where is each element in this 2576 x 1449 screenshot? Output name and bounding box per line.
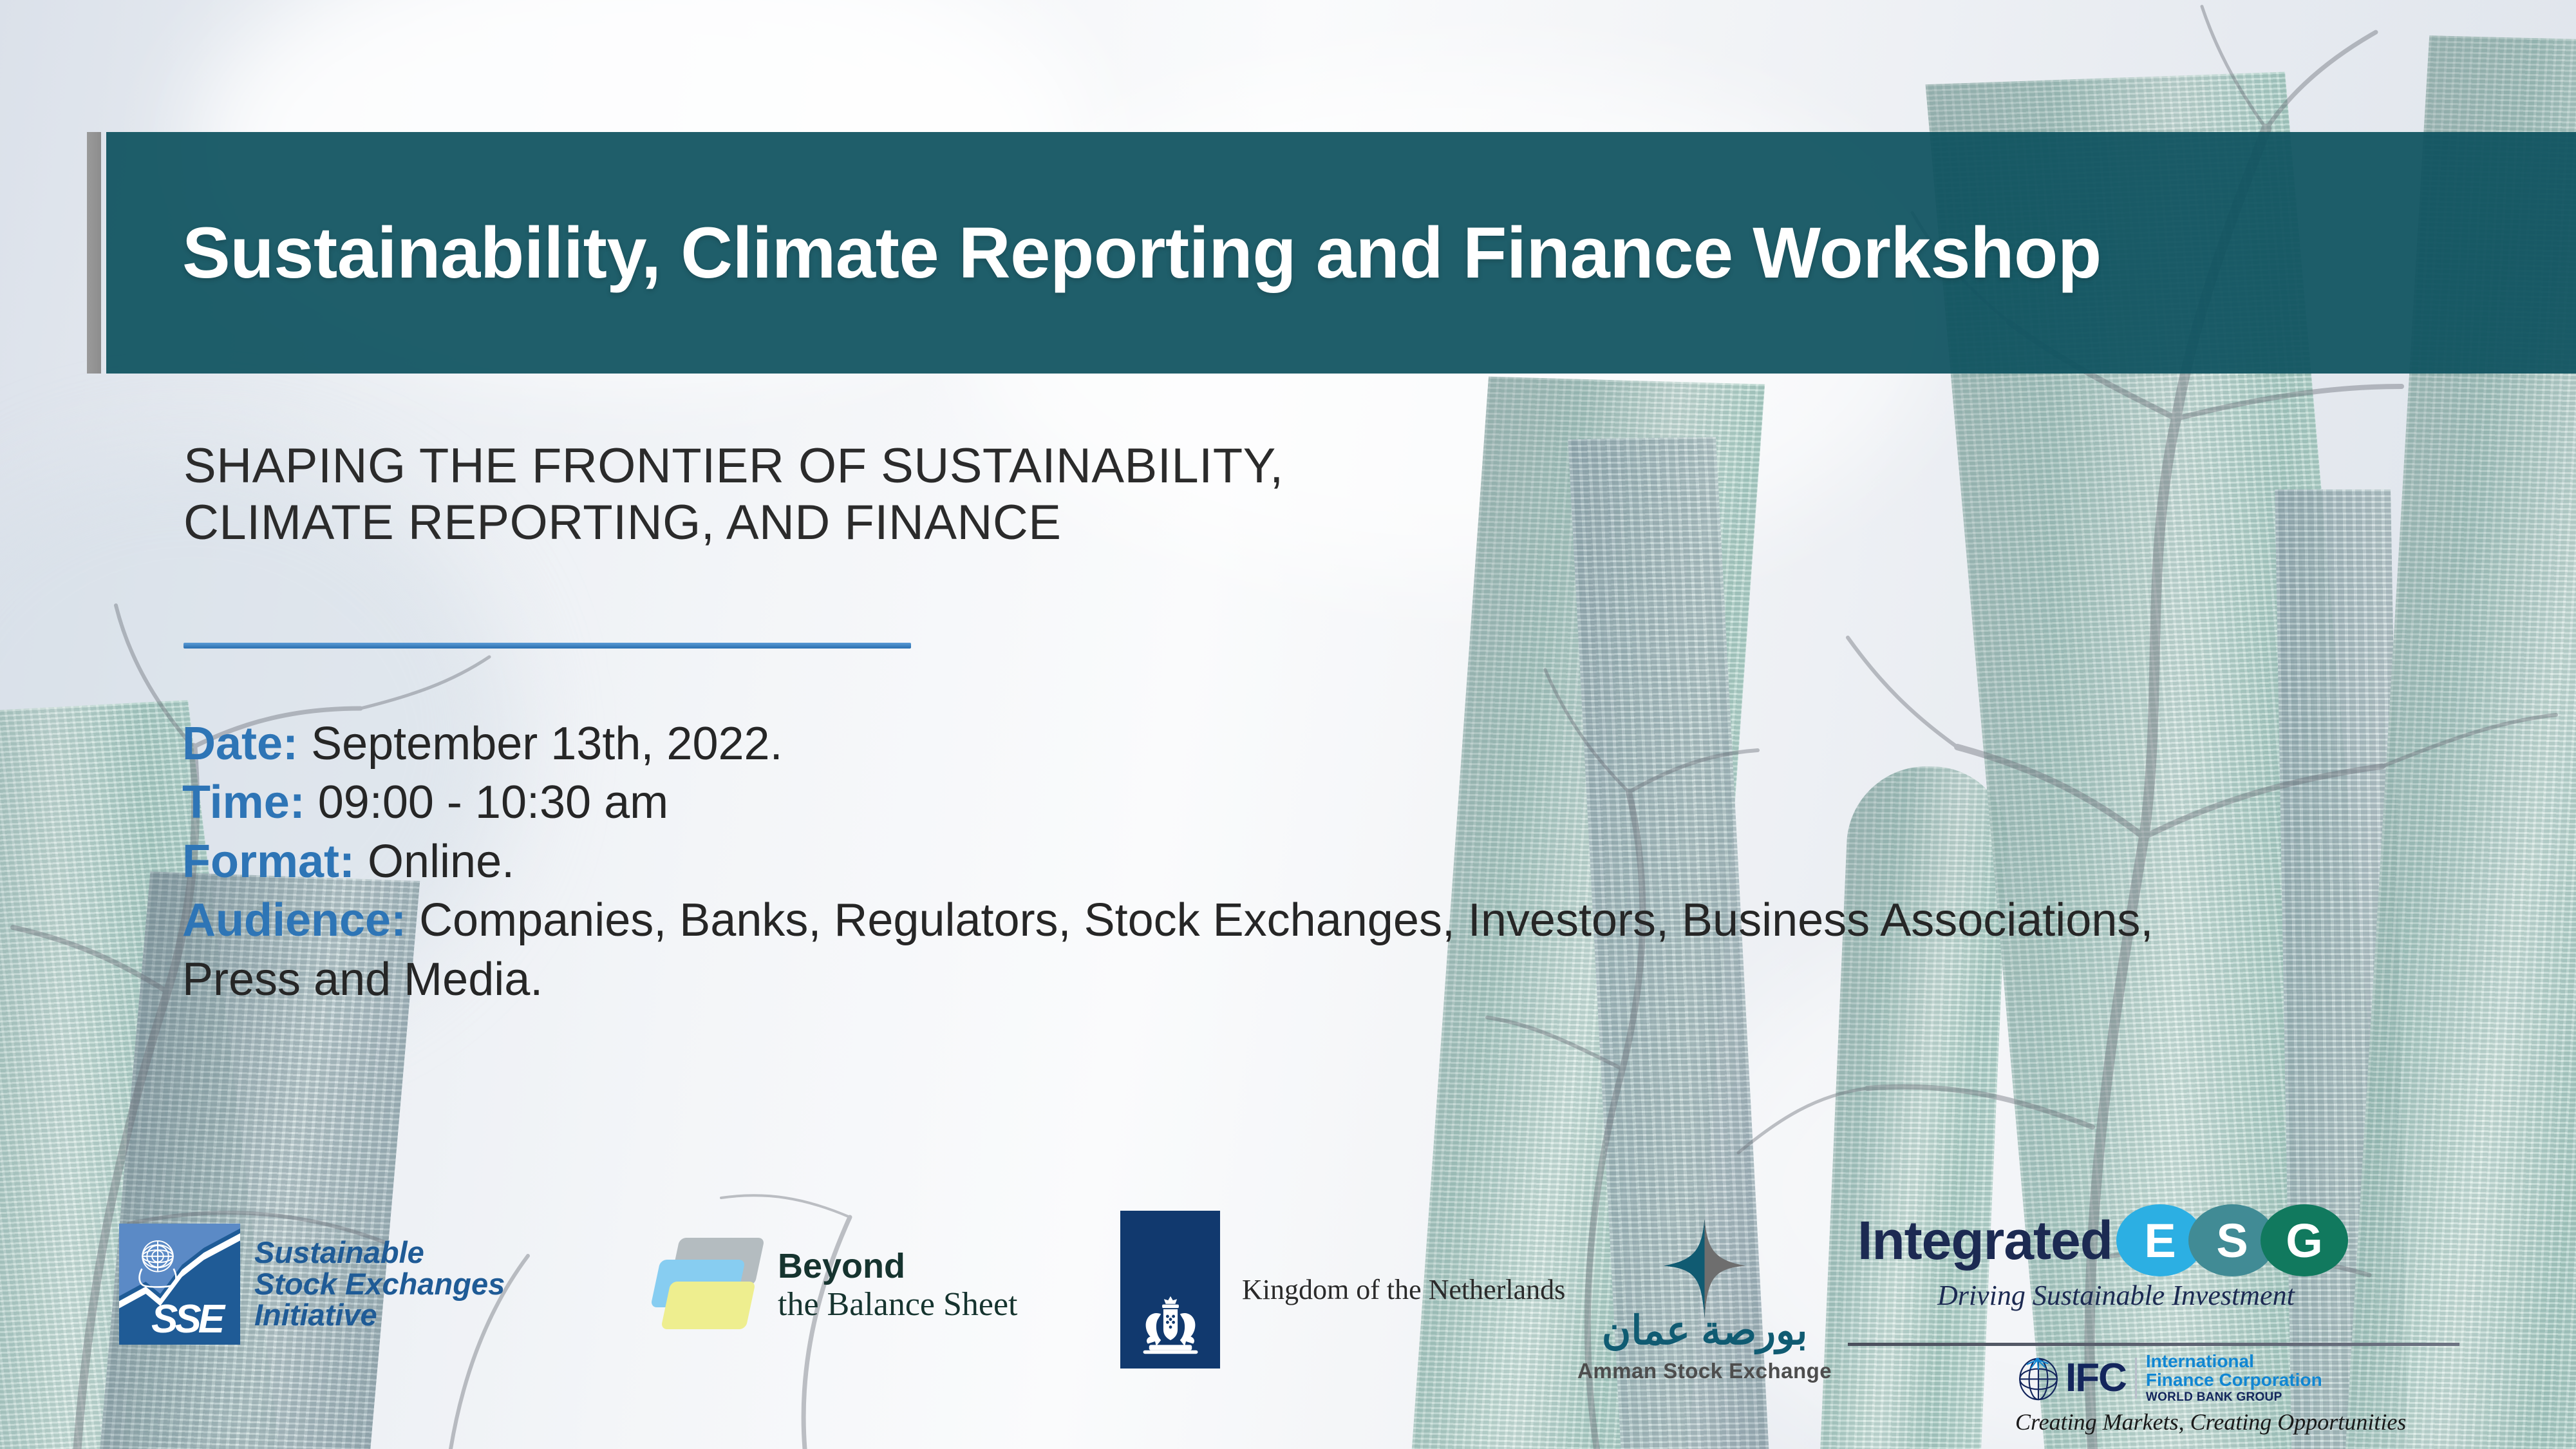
subtitle-divider (183, 643, 911, 649)
btbs-wordmark: Beyond the Balance Sheet (778, 1247, 1018, 1323)
date-value: September 13th, 2022. (311, 718, 783, 770)
title-banner: Sustainability, Climate Reporting and Fi… (106, 132, 2576, 374)
date-label: Date: (182, 718, 298, 770)
time-value: 09:00 - 10:30 am (318, 777, 668, 828)
sse-word-line-1: Sustainable (254, 1237, 505, 1269)
detail-format: Format: Online. (182, 833, 2242, 891)
ifc-name-line-2: Finance Corporation (2146, 1371, 2322, 1390)
logo-beyond-the-balance-sheet: Beyond the Balance Sheet (650, 1235, 1018, 1335)
logo-strip: SSE Sustainable Stock Exchanges Initiati… (0, 1211, 2576, 1449)
stacked-sheets-icon (650, 1235, 766, 1335)
logo-sse: SSE Sustainable Stock Exchanges Initiati… (119, 1224, 505, 1345)
subtitle-line-2: CLIMATE REPORTING, AND FINANCE (183, 495, 1536, 551)
btbs-line-1: Beyond (778, 1247, 1018, 1285)
un-emblem-icon (129, 1231, 186, 1288)
ase-english-wordmark: Amman Stock Exchange (1577, 1359, 1832, 1383)
audience-label: Audience: (182, 895, 406, 946)
netherlands-panel (1120, 1211, 1220, 1368)
btbs-line-2: the Balance Sheet (778, 1286, 1018, 1323)
sse-word-line-3: Initiative (254, 1300, 505, 1331)
iesg-tagline: Driving Sustainable Investment (1937, 1279, 2295, 1312)
esg-circles: E S G (2116, 1204, 2351, 1276)
ifc-tagline: Creating Markets, Creating Opportunities (2015, 1408, 2406, 1435)
dutch-coat-of-arms-icon (1134, 1294, 1207, 1356)
ifc-divider-line (1848, 1343, 2459, 1346)
format-value: Online. (368, 836, 514, 887)
four-point-star-icon (1661, 1217, 1748, 1320)
page-title: Sustainability, Climate Reporting and Fi… (106, 211, 2101, 294)
logo-integrated-esg: Integrated E S G Driving Sustainable Inv… (1857, 1204, 2351, 1312)
ifc-name-line-1: International (2146, 1352, 2322, 1371)
sse-mark-text: SSE (151, 1300, 221, 1340)
title-accent-bar (87, 132, 101, 374)
event-details: Date: September 13th, 2022. Time: 09:00 … (182, 715, 2242, 1009)
sse-wordmark: Sustainable Stock Exchanges Initiative (254, 1237, 505, 1332)
ase-arabic-wordmark: بورصة عمان (1602, 1311, 1808, 1351)
netherlands-wordmark: Kingdom of the Netherlands (1242, 1273, 1565, 1306)
subtitle-line-1: SHAPING THE FRONTIER OF SUSTAINABILITY, (183, 438, 1536, 495)
ifc-top-row: IFC International Finance Corporation WO… (2015, 1352, 2322, 1403)
ifc-world-bank-group: WORLD BANK GROUP (2146, 1391, 2322, 1403)
time-label: Time: (182, 777, 305, 828)
sse-emblem-icon: SSE (119, 1224, 240, 1345)
iesg-word-integrated: Integrated (1857, 1209, 2112, 1272)
sse-word-line-2: Stock Exchanges (254, 1269, 505, 1300)
logo-amman-stock-exchange: بورصة عمان Amman Stock Exchange (1577, 1217, 1832, 1383)
subtitle: SHAPING THE FRONTIER OF SUSTAINABILITY, … (183, 438, 1536, 551)
audience-value: Companies, Banks, Regulators, Stock Exch… (182, 895, 2153, 1005)
ifc-separator (2135, 1358, 2137, 1399)
detail-audience: Audience: Companies, Banks, Regulators, … (182, 891, 2242, 1009)
detail-date: Date: September 13th, 2022. (182, 715, 2242, 773)
ifc-fullname: International Finance Corporation WORLD … (2146, 1352, 2322, 1403)
logo-kingdom-of-the-netherlands: Kingdom of the Netherlands (1120, 1211, 1565, 1368)
iesg-top-row: Integrated E S G (1857, 1204, 2351, 1276)
esg-circle-g: G (2261, 1204, 2348, 1276)
globe-icon (2015, 1355, 2062, 1401)
ifc-abbreviation: IFC (2065, 1355, 2126, 1401)
detail-time: Time: 09:00 - 10:30 am (182, 773, 2242, 832)
format-label: Format: (182, 836, 355, 887)
logo-ifc: IFC International Finance Corporation WO… (2015, 1352, 2406, 1435)
